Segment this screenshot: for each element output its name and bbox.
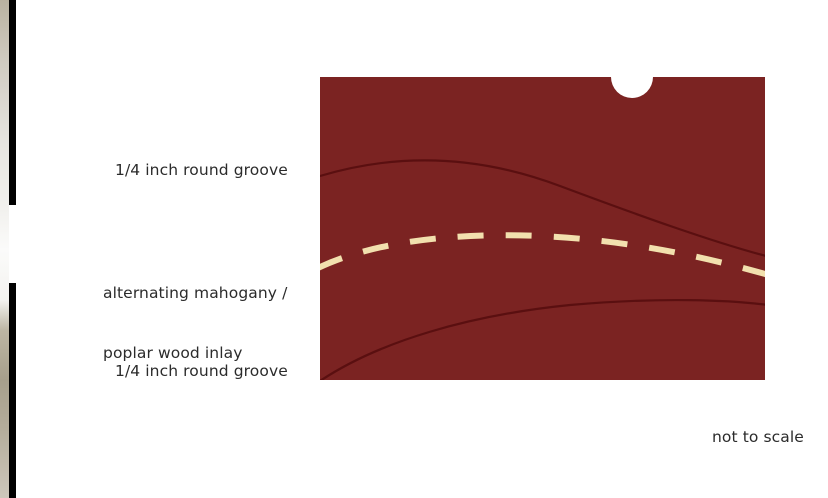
label-groove-bottom: 1/4 inch round groove [115,361,288,381]
label-not-to-scale: not to scale [712,427,804,447]
label-groove-top: 1/4 inch round groove [115,160,288,180]
label-wood-inlay-line2: poplar wood inlay [103,343,287,363]
panel-body [320,77,765,380]
label-wood-inlay-line1: alternating mahogany / [103,283,287,303]
diagram-canvas: 1/4 inch round groove alternating mahoga… [0,0,828,498]
